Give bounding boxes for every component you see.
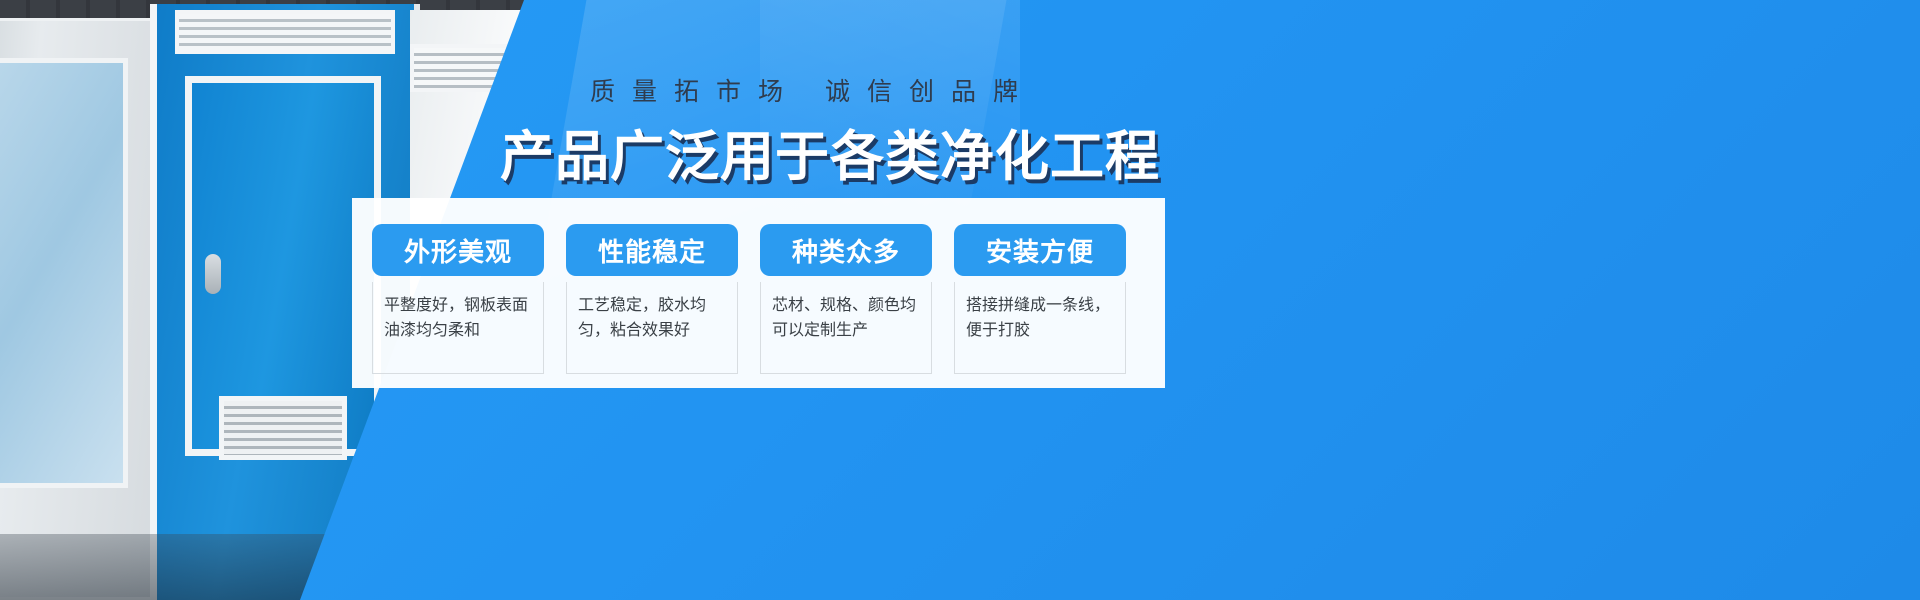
feature-cards-panel: 外形美观 平整度好，钢板表面油漆均匀柔和 性能稳定 工艺稳定，胶水均匀，粘合效果… (352, 198, 1165, 388)
feature-card: 种类众多 芯材、规格、颜色均可以定制生产 (760, 224, 932, 374)
banner-headline: 产品广泛用于各类净化工程 (500, 112, 1100, 191)
feature-card: 性能稳定 工艺稳定，胶水均匀，粘合效果好 (566, 224, 738, 374)
feature-card-description: 芯材、规格、颜色均可以定制生产 (760, 282, 932, 374)
feature-card-title: 安装方便 (954, 224, 1126, 276)
feature-card-description: 工艺稳定，胶水均匀，粘合效果好 (566, 282, 738, 374)
feature-card-title: 种类众多 (760, 224, 932, 276)
feature-card-title: 性能稳定 (566, 224, 738, 276)
louver-vent-bottom-icon (219, 396, 347, 460)
feature-card: 安装方便 搭接拼缝成一条线，便于打胶 (954, 224, 1126, 374)
louver-vent-top-icon (175, 10, 395, 54)
promo-banner: 质量拓市场 诚信创品牌 产品广泛用于各类净化工程 外形美观 平整度好，钢板表面油… (0, 0, 1920, 600)
banner-tagline: 质量拓市场 诚信创品牌 (524, 72, 1084, 108)
cabin-glass-panel (0, 58, 128, 488)
feature-card-title: 外形美观 (372, 224, 544, 276)
feature-card-description: 平整度好，钢板表面油漆均匀柔和 (372, 282, 544, 374)
door-handle-icon (205, 254, 221, 294)
cabin-unit-left (0, 18, 160, 600)
feature-card: 外形美观 平整度好，钢板表面油漆均匀柔和 (372, 224, 544, 374)
feature-card-description: 搭接拼缝成一条线，便于打胶 (954, 282, 1126, 374)
